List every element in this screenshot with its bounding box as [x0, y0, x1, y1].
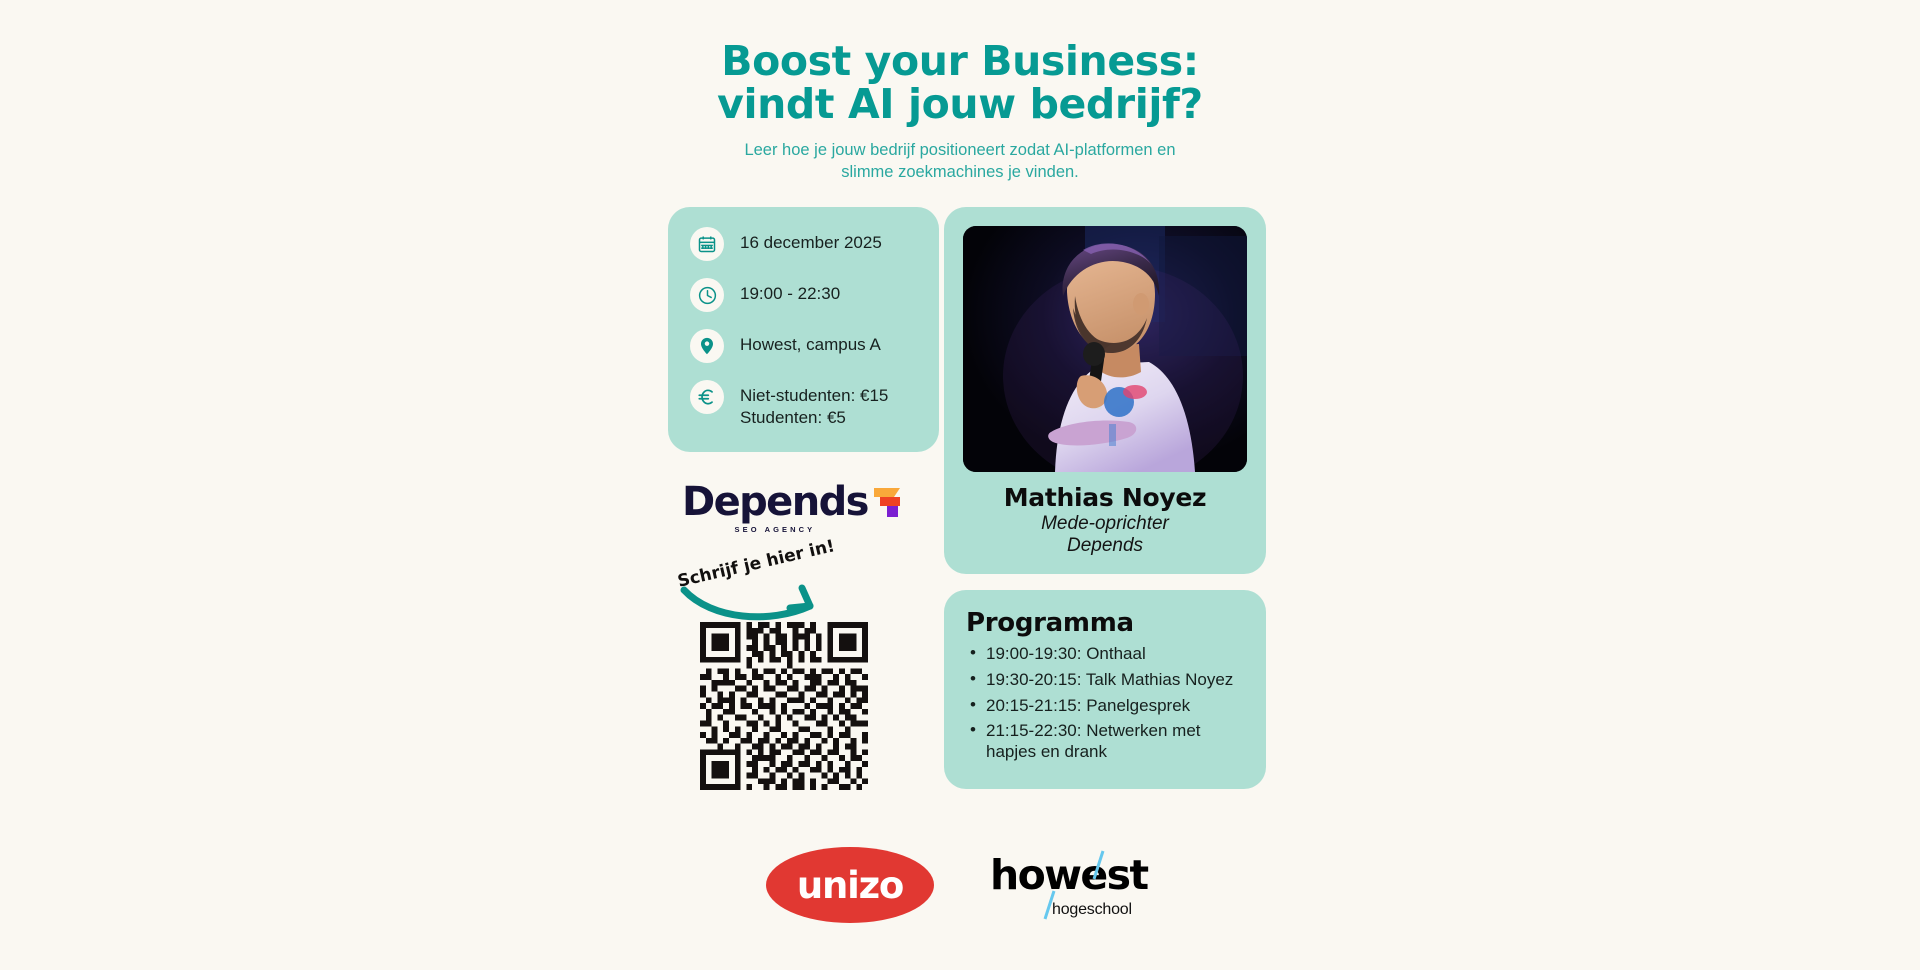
depends-mark-icon — [870, 486, 904, 524]
unizo-wordmark: unizo — [797, 867, 903, 904]
depends-wordmark: Depends — [682, 482, 868, 522]
depends-tagline: SEO AGENCY — [682, 525, 868, 534]
speaker-role-line-1: Mede-oprichter — [963, 513, 1247, 535]
howest-logo: howest hogeschool — [990, 845, 1154, 925]
howest-subtitle: hogeschool — [1052, 901, 1132, 919]
list-item: 21:15-22:30: Netwerken met hapjes en dra… — [966, 720, 1244, 762]
info-text-time: 19:00 - 22:30 — [740, 278, 840, 305]
signup-arrow-icon — [678, 574, 838, 631]
info-row-date: 16 december 2025 — [690, 227, 917, 261]
qr-code-image[interactable] — [700, 622, 868, 790]
poster-title: Boost your Business: vindt AI jouw bedri… — [0, 40, 1920, 127]
depends-logo: Depends SEO AGENCY — [668, 478, 943, 546]
title-line-1: Boost your Business: — [0, 40, 1920, 83]
poster-subtitle: Leer hoe je jouw bedrijf positioneert zo… — [0, 140, 1920, 184]
event-info-card: 16 december 2025 19:00 - 22:30 — [668, 207, 939, 452]
left-column: 16 december 2025 19:00 - 22:30 — [668, 207, 943, 790]
speaker-name: Mathias Noyez — [963, 483, 1247, 512]
event-poster: Boost your Business: vindt AI jouw bedri… — [0, 0, 1920, 970]
qr-code[interactable] — [700, 622, 943, 790]
partner-logos: unizo howest hogeschool — [0, 845, 1920, 925]
info-text-location: Howest, campus A — [740, 329, 881, 356]
euro-icon — [690, 380, 724, 414]
signup-callout: Schrijf je hier in! — [668, 548, 943, 620]
subtitle-line-2: slimme zoekmachines je vinden. — [0, 162, 1920, 184]
speaker-photo — [963, 226, 1247, 472]
info-text-price: Niet-studenten: €15 Studenten: €5 — [740, 380, 888, 430]
subtitle-line-1: Leer hoe je jouw bedrijf positioneert zo… — [0, 140, 1920, 162]
poster-header: Boost your Business: vindt AI jouw bedri… — [0, 40, 1920, 184]
calendar-icon — [690, 227, 724, 261]
unizo-logo: unizo — [766, 847, 934, 923]
title-line-2: vindt AI jouw bedrijf? — [0, 83, 1920, 126]
list-item: 19:00-19:30: Onthaal — [966, 643, 1244, 664]
speaker-card: Mathias Noyez Mede-oprichter Depends — [944, 207, 1266, 574]
info-row-location: Howest, campus A — [690, 329, 917, 363]
list-item: 19:30-20:15: Talk Mathias Noyez — [966, 669, 1244, 690]
right-column: Mathias Noyez Mede-oprichter Depends Pro… — [944, 207, 1266, 789]
programma-card: Programma 19:00-19:30: Onthaal 19:30-20:… — [944, 590, 1266, 788]
info-text-date: 16 december 2025 — [740, 227, 882, 254]
info-row-time: 19:00 - 22:30 — [690, 278, 917, 312]
programma-list: 19:00-19:30: Onthaal 19:30-20:15: Talk M… — [966, 643, 1244, 762]
clock-icon — [690, 278, 724, 312]
list-item: 20:15-21:15: Panelgesprek — [966, 695, 1244, 716]
speaker-role-line-2: Depends — [963, 535, 1247, 557]
location-pin-icon — [690, 329, 724, 363]
programma-title: Programma — [966, 608, 1244, 638]
speaker-role: Mede-oprichter Depends — [963, 513, 1247, 557]
info-row-price: Niet-studenten: €15 Studenten: €5 — [690, 380, 917, 430]
